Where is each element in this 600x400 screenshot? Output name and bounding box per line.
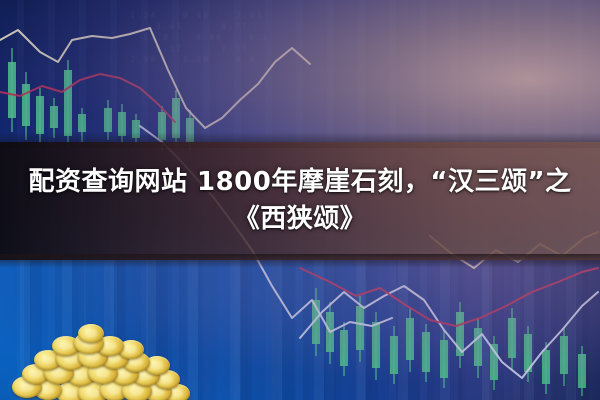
gold-coin [78, 324, 104, 343]
finance-banner: 1.24 0.98 2.03 3.41 0.77 12.8 4.06 9.1 0… [0, 0, 600, 400]
